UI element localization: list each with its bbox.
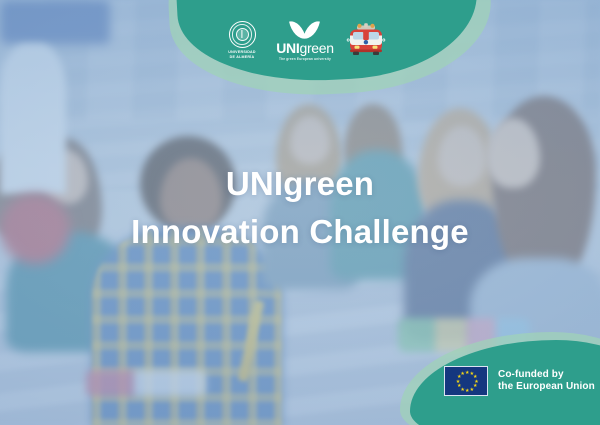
leaf-right [303,18,320,40]
poster-title: UNIgreen Innovation Challenge [0,160,600,256]
eu-cofunding-badge: ★★★★★★★★★★★★ Co-funded by the European U… [444,366,595,396]
unigreen-innovation-challenge-poster: UNIVERSIDAD DE ALMERÍA UNIgreen The gree… [0,0,600,425]
eu-star: ★ [465,371,469,375]
eu-star: ★ [456,380,460,384]
poster-title-line-2: Innovation Challenge [0,208,600,256]
camper-van-icon [344,20,388,60]
unigreen-wordmark-uni: UNI [276,40,299,56]
eu-star: ★ [457,384,461,388]
eu-star: ★ [470,388,474,392]
eu-star: ★ [465,389,469,393]
eu-flag-icon: ★★★★★★★★★★★★ [444,366,488,396]
logo-row: UNIVERSIDAD DE ALMERÍA UNIgreen The gree… [218,16,388,64]
eu-star: ★ [460,372,464,376]
logo-universidad-de-almeria: UNIVERSIDAD DE ALMERÍA [218,21,266,59]
university-seal-inner [236,28,249,41]
unigreen-wordmark-green: green [299,40,333,56]
leaves-icon [290,20,320,40]
university-seal-icon [229,21,256,48]
logo-unigreen: UNIgreen The green European university [274,20,336,61]
unigreen-wordmark: UNIgreen [276,41,334,56]
universidad-de-almeria-label: UNIVERSIDAD DE ALMERÍA [228,50,256,59]
poster-title-line-1: UNIgreen [0,160,600,208]
eu-cofunding-label: Co-funded by the European Union [498,369,595,394]
unigreen-tagline: The green European university [279,57,331,61]
